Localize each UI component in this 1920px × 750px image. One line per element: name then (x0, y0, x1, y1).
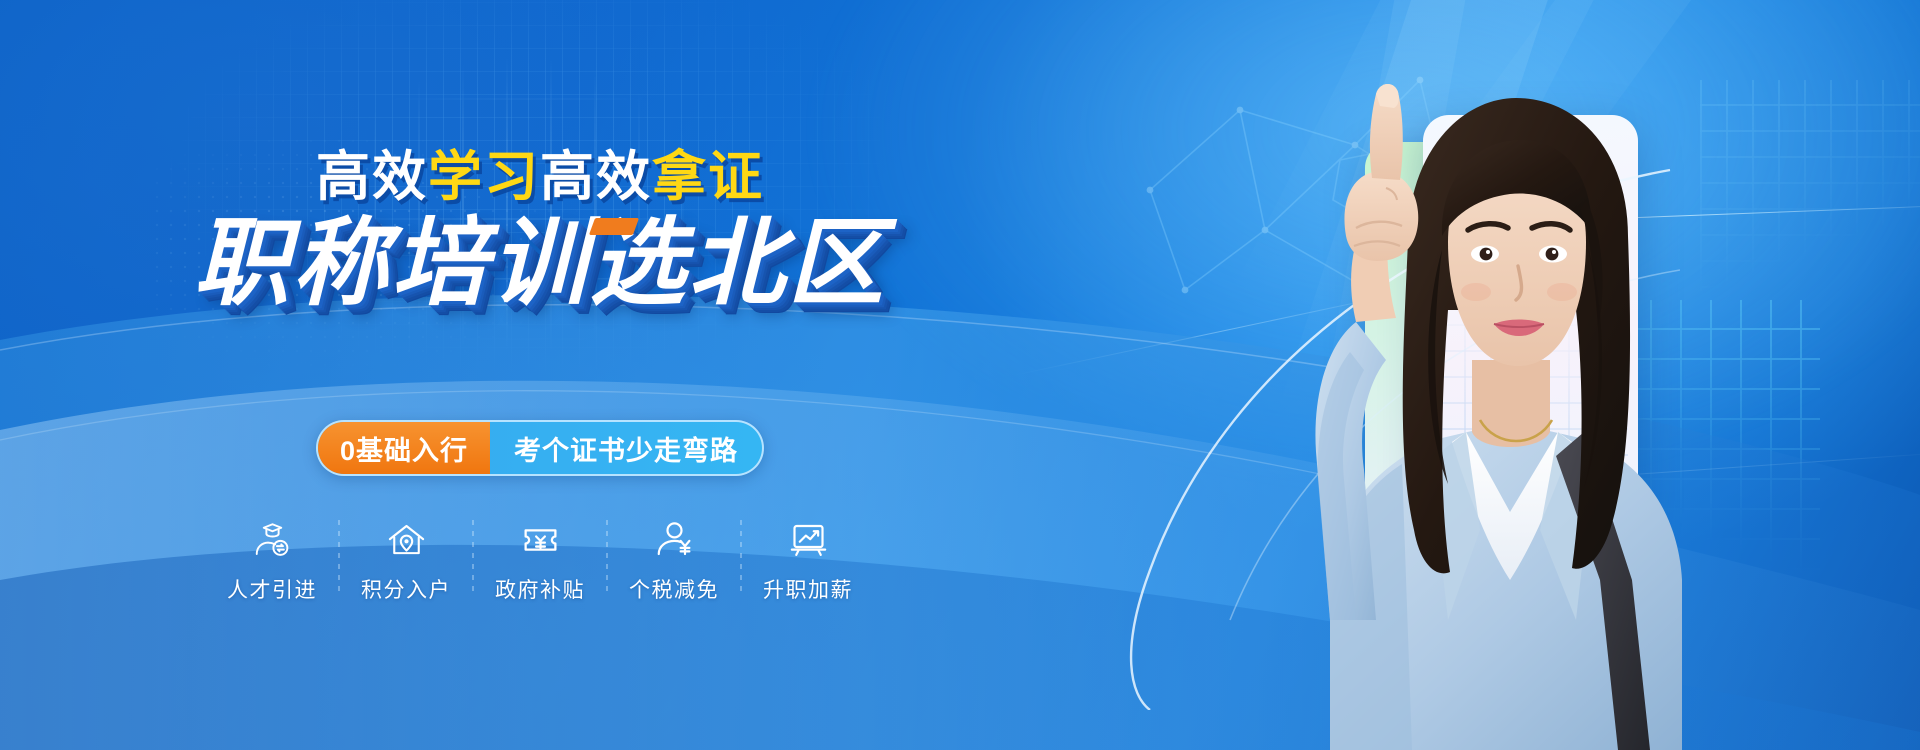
growth-chart-board-icon (787, 518, 829, 562)
orange-accent-slash (588, 218, 638, 235)
feature-item-promotion-raise[interactable]: 升职加薪 (742, 518, 875, 604)
subheadline-seg-3: 高效 (540, 147, 652, 207)
feature-item-government-subsidy[interactable]: 政府补贴 (474, 518, 607, 604)
subheadline: 高效学习高效拿证 (0, 150, 1080, 204)
feature-label: 积分入户 (361, 574, 451, 604)
main-headline-text: 职称培训选北区 (194, 210, 887, 317)
feature-item-tax-reduction[interactable]: 个税减免 (608, 518, 741, 604)
house-pin-icon (385, 518, 427, 562)
promo-banner: 高效学习高效拿证 职称培训选北区 0基础入行 考个证书少走弯路 (0, 0, 1920, 750)
feature-label: 升职加薪 (763, 574, 853, 604)
subheadline-seg-2: 学习 (428, 147, 540, 207)
person-yuan-icon (653, 518, 695, 562)
feature-label: 个税减免 (629, 574, 719, 604)
hero-image-zone (1060, 0, 1920, 750)
feature-item-points-residency[interactable]: 积分入户 (340, 518, 473, 604)
subheadline-seg-1: 高效 (316, 147, 428, 207)
feature-label: 政府补贴 (495, 574, 585, 604)
tagline-pill[interactable]: 0基础入行 考个证书少走弯路 (316, 420, 764, 476)
main-headline-row: 职称培训选北区 (0, 204, 1080, 316)
feature-item-talent-introduction[interactable]: 人才引进 (206, 518, 339, 604)
main-headline: 职称培训选北区 (194, 212, 887, 316)
subheadline-seg-4: 拿证 (652, 147, 764, 207)
feature-label: 人才引进 (227, 574, 317, 604)
pill-right-label: 考个证书少走弯路 (490, 422, 762, 474)
banner-content: 高效学习高效拿证 职称培训选北区 0基础入行 考个证书少走弯路 (0, 0, 1080, 750)
feature-list: 人才引进 积分入户 (206, 518, 875, 604)
voucher-yuan-icon (519, 518, 561, 562)
presenter-photo (1180, 60, 1740, 750)
graduate-person-icon (251, 518, 293, 562)
headline-group: 高效学习高效拿证 职称培训选北区 (0, 150, 1080, 316)
pill-left-label: 0基础入行 (318, 422, 490, 474)
